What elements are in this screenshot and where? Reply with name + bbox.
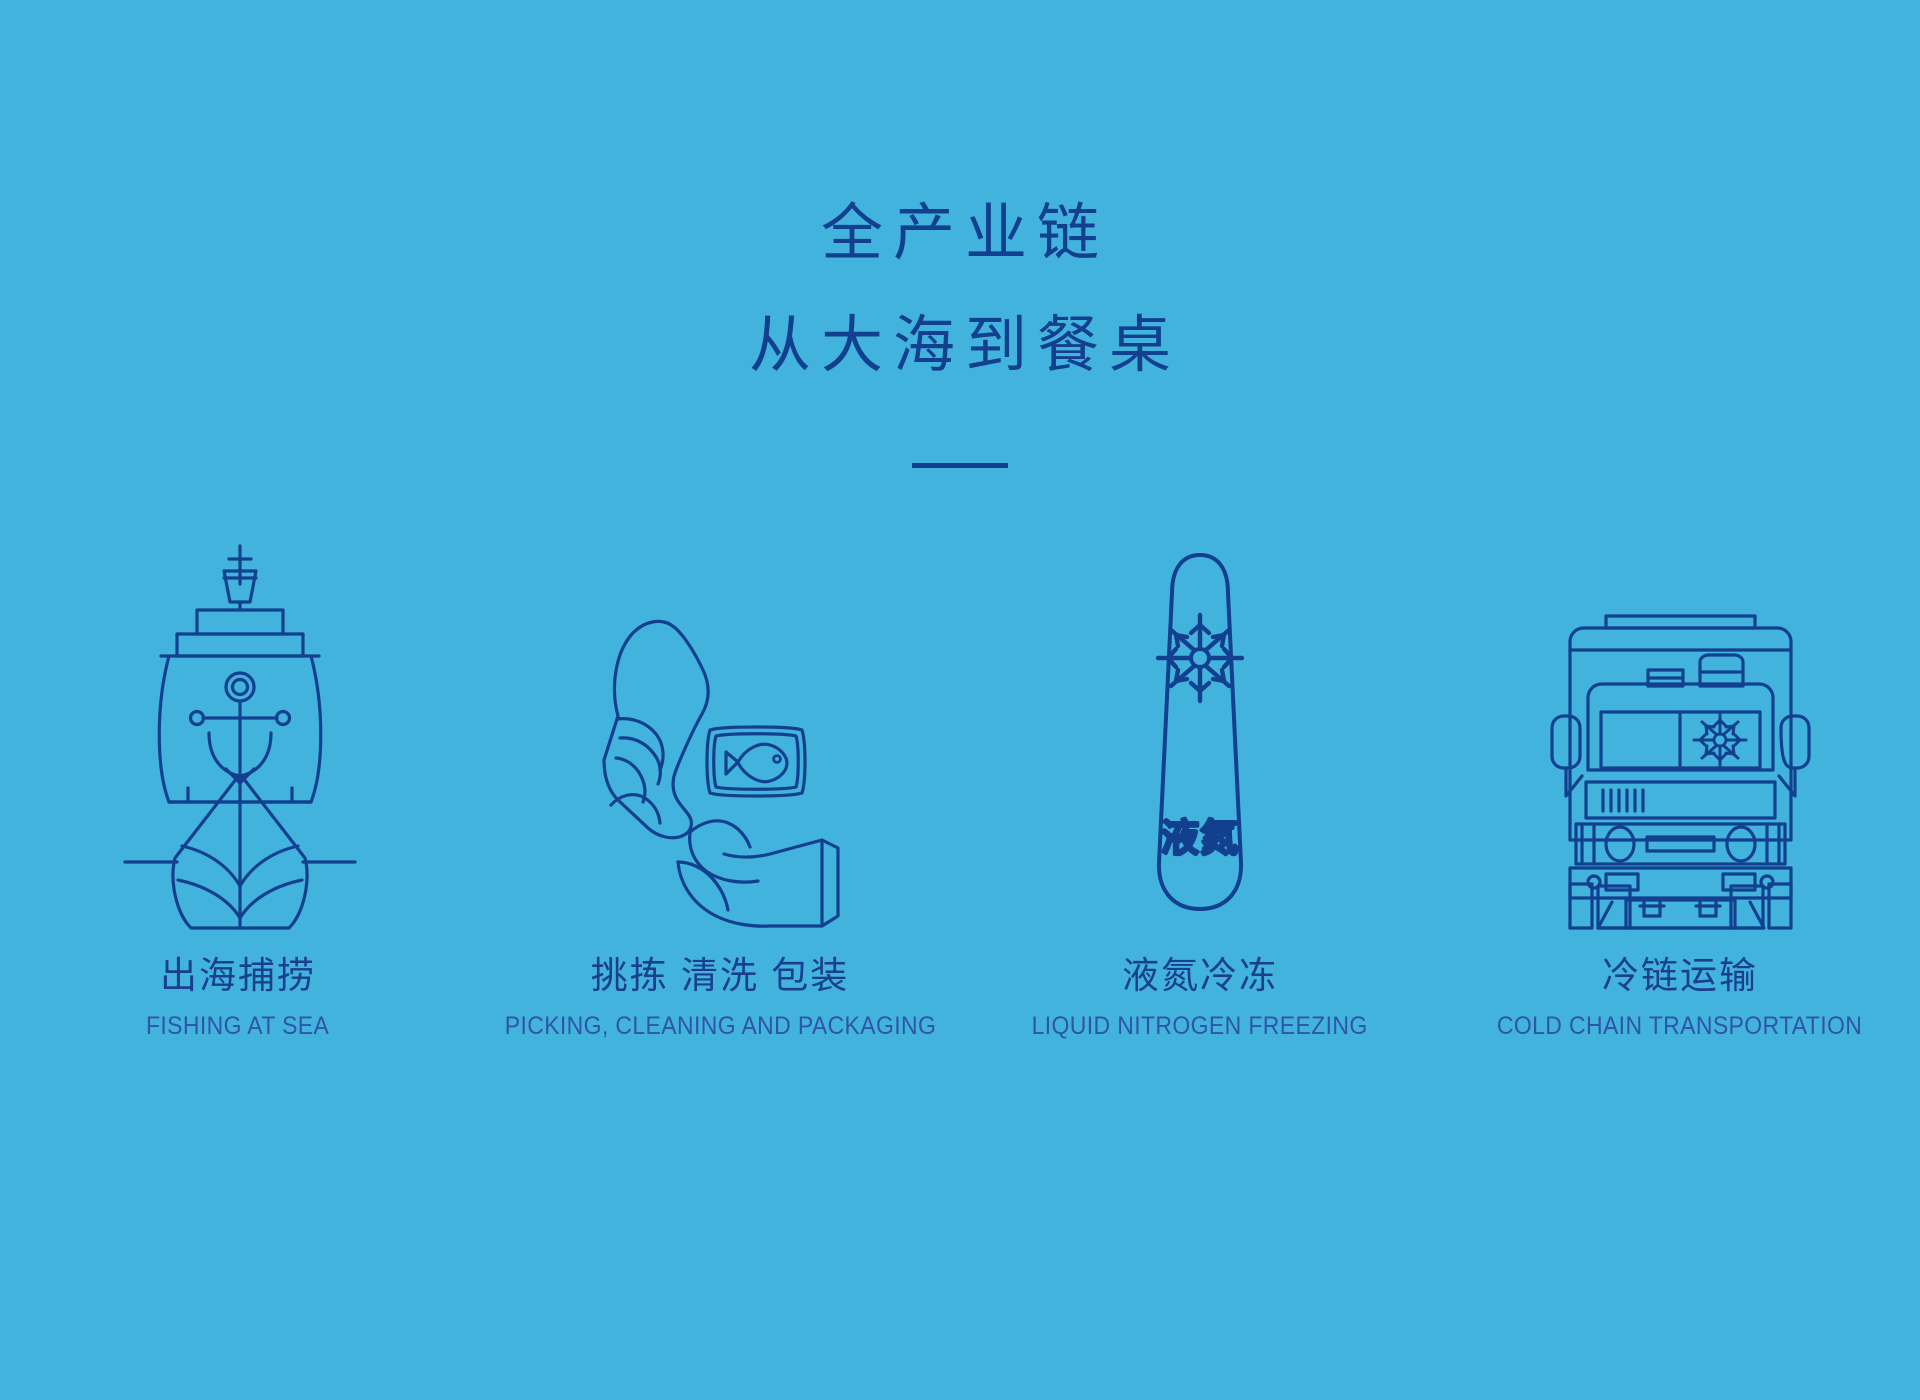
step-picking-cleaning-packaging[interactable]: 挑拣 清洗 包装 PICKING, CLEANING AND PACKAGING bbox=[480, 520, 960, 1043]
tank-caption: 液氮 bbox=[1161, 818, 1239, 860]
step-label-en: FISHING AT SEA bbox=[146, 1009, 329, 1043]
snowflake-icon bbox=[1694, 714, 1746, 766]
step-label-en: LIQUID NITROGEN FREEZING bbox=[1032, 1009, 1368, 1043]
page-title: 全产业链 从大海到餐桌 bbox=[0, 178, 1920, 402]
title-divider-wrapper bbox=[0, 455, 1920, 473]
hands-holding-fish-package-icon bbox=[570, 600, 870, 930]
step-illustration: 液氮 bbox=[1130, 520, 1270, 930]
title-line-2: 从大海到餐桌 bbox=[0, 290, 1920, 402]
step-labels: 出海捕捞 FISHING AT SEA bbox=[138, 952, 337, 1043]
step-label-cn: 出海捕捞 bbox=[138, 952, 337, 1000]
step-label-cn: 挑拣 清洗 包装 bbox=[486, 952, 955, 1000]
step-labels: 挑拣 清洗 包装 PICKING, CLEANING AND PACKAGING bbox=[486, 952, 955, 1043]
step-fishing-at-sea[interactable]: 出海捕捞 FISHING AT SEA bbox=[0, 520, 480, 1043]
step-cold-chain-transportation[interactable]: 冷链运输 COLD CHAIN TRANSPORTATION bbox=[1440, 520, 1920, 1043]
step-illustration bbox=[570, 520, 870, 930]
title-divider bbox=[912, 463, 1008, 468]
fishing-boat-with-anchor-icon bbox=[125, 540, 355, 930]
step-label-cn: 液氮冷冻 bbox=[1017, 952, 1382, 1000]
step-illustration bbox=[1548, 520, 1813, 930]
step-label-en: COLD CHAIN TRANSPORTATION bbox=[1497, 1009, 1862, 1043]
title-line-1: 全产业链 bbox=[0, 178, 1920, 290]
snowflake-icon bbox=[1158, 615, 1242, 701]
industry-chain-infographic: 全产业链 从大海到餐桌 bbox=[0, 0, 1920, 1400]
liquid-nitrogen-tank-icon: 液氮 bbox=[1130, 545, 1270, 930]
process-steps: 出海捕捞 FISHING AT SEA bbox=[0, 520, 1920, 1120]
step-liquid-nitrogen-freezing[interactable]: 液氮 液氮冷冻 LIQUID NITROGEN FREEZING bbox=[960, 520, 1440, 1043]
refrigerated-truck-icon bbox=[1548, 610, 1813, 930]
step-labels: 冷链运输 COLD CHAIN TRANSPORTATION bbox=[1481, 952, 1878, 1043]
step-illustration bbox=[125, 520, 355, 930]
step-labels: 液氮冷冻 LIQUID NITROGEN FREEZING bbox=[1017, 952, 1382, 1043]
step-label-en: PICKING, CLEANING AND PACKAGING bbox=[504, 1009, 935, 1043]
step-label-cn: 冷链运输 bbox=[1481, 952, 1878, 1000]
